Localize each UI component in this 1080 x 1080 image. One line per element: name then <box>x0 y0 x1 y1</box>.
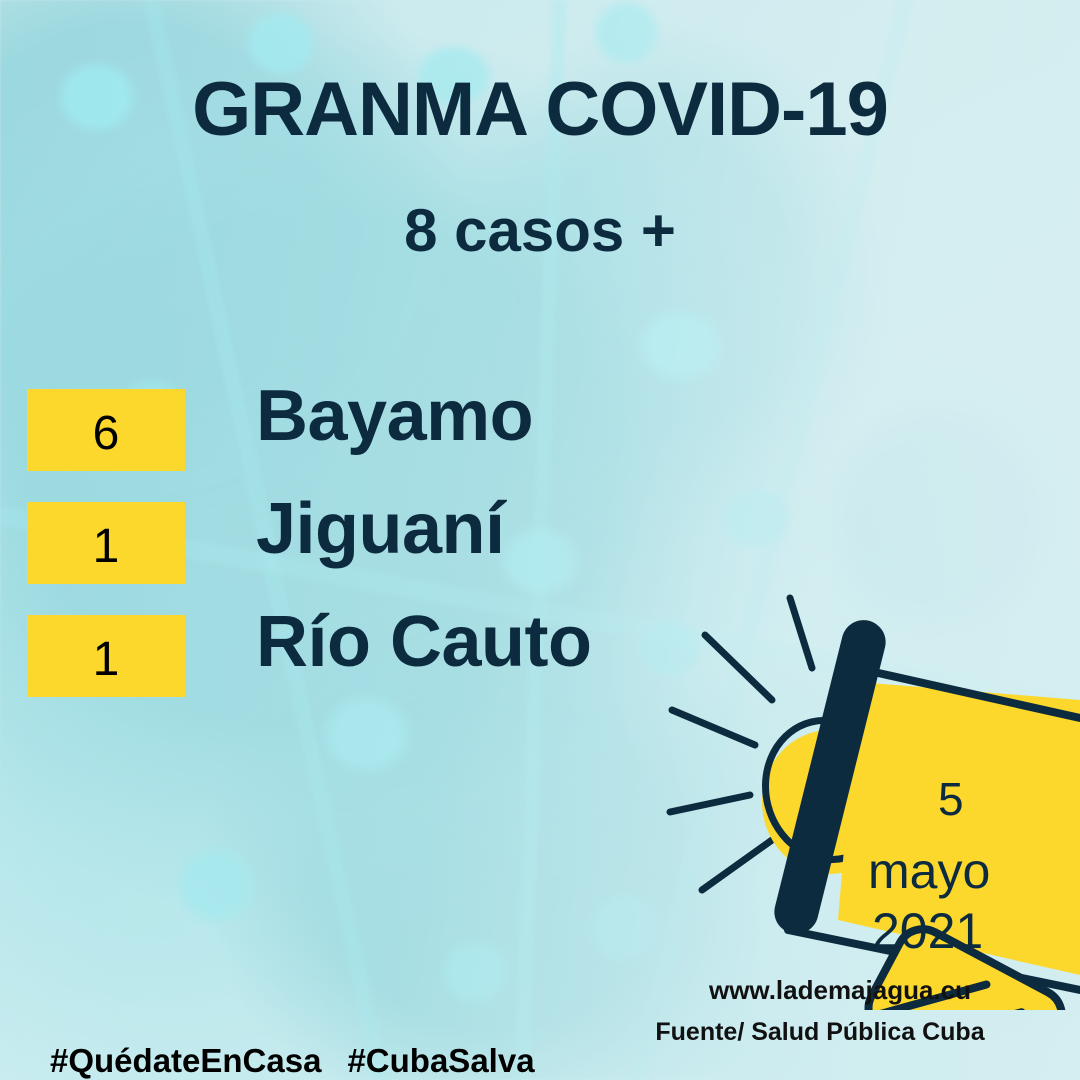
list-item: 1 Río Cauto <box>0 609 720 722</box>
municipality-name: Bayamo <box>256 375 533 457</box>
website-url[interactable]: www.lademajagua.cu <box>640 975 1040 1006</box>
count-value: 1 <box>93 636 120 684</box>
count-badge: 1 <box>27 615 185 697</box>
covid-infographic-poster: GRANMA COVID-19 8 casos + 6 Bayamo 1 Jig… <box>0 0 1080 1080</box>
date-day: 5 <box>938 772 964 826</box>
count-value: 1 <box>93 523 120 571</box>
hashtags: #QuédateEnCasa#CubaSalva <box>50 1042 535 1080</box>
list-item: 1 Jiguaní <box>0 496 720 609</box>
megaphone-icon <box>660 590 1080 1010</box>
date-year: 2021 <box>872 902 983 960</box>
page-title: GRANMA COVID-19 <box>0 66 1080 153</box>
hashtag-quedate-en-casa: #QuédateEnCasa <box>50 1042 321 1079</box>
count-badge: 1 <box>27 502 185 584</box>
date-month: mayo <box>868 842 990 900</box>
source-label: Fuente/ Salud Pública Cuba <box>620 1018 1020 1047</box>
hashtag-cuba-salva: #CubaSalva <box>347 1042 534 1079</box>
count-badge: 6 <box>27 389 185 471</box>
municipality-name: Río Cauto <box>256 601 591 683</box>
municipality-list: 6 Bayamo 1 Jiguaní 1 Río Cauto <box>0 383 720 722</box>
municipality-name: Jiguaní <box>256 488 505 570</box>
count-value: 6 <box>93 410 120 458</box>
cases-subtitle: 8 casos + <box>0 196 1080 265</box>
list-item: 6 Bayamo <box>0 383 720 496</box>
